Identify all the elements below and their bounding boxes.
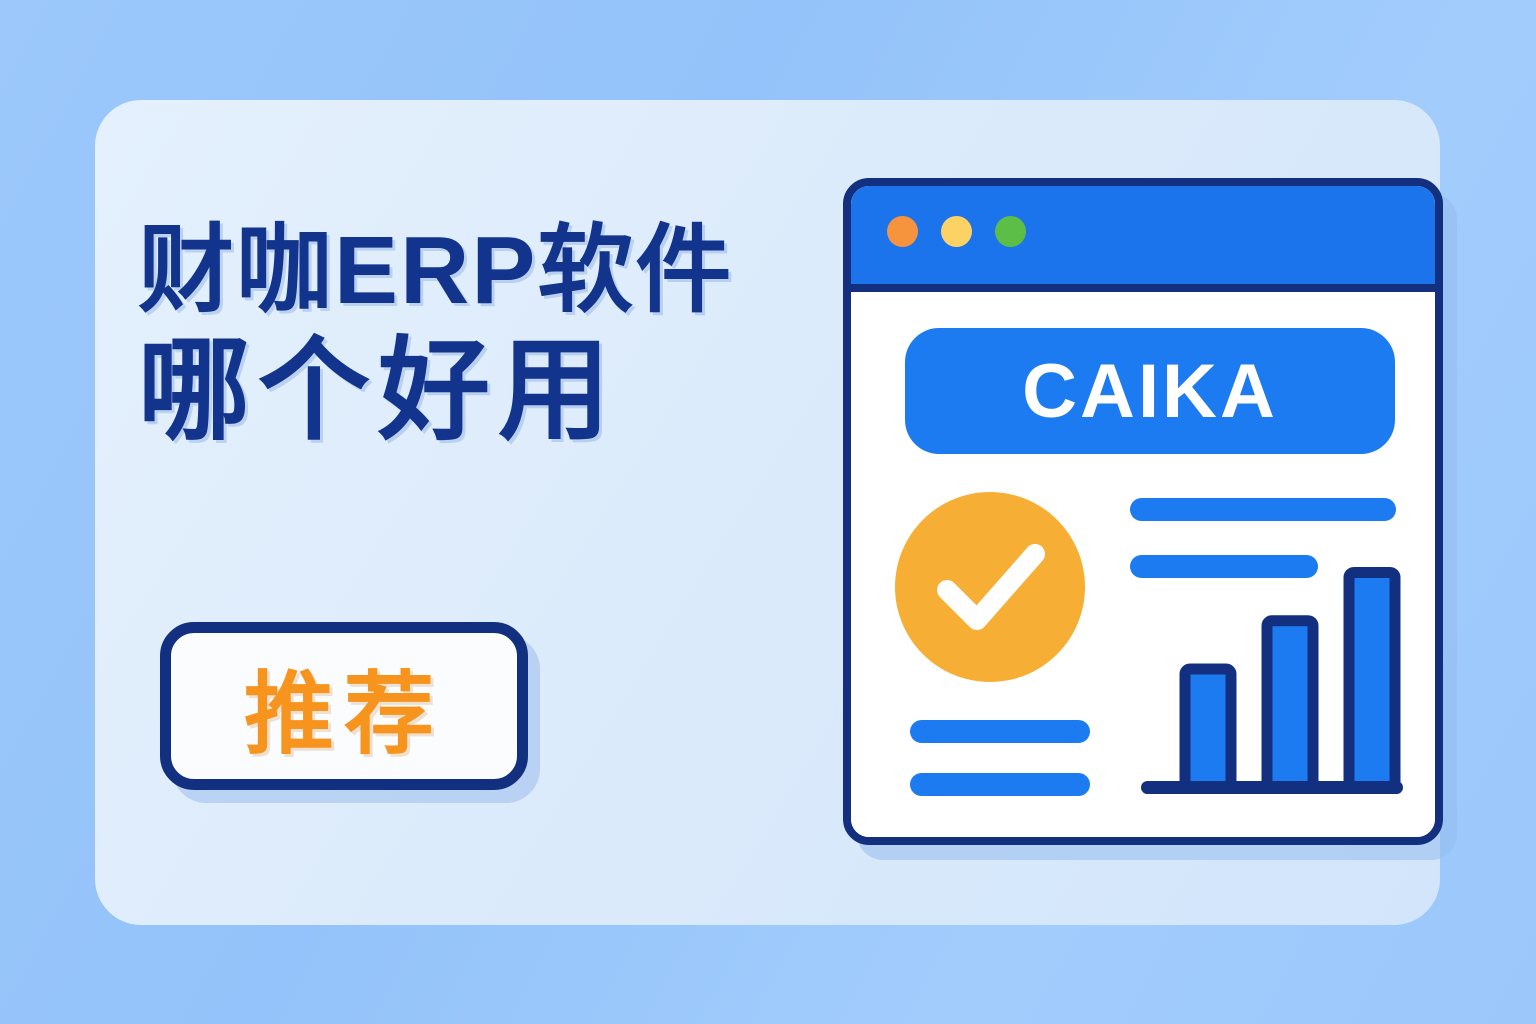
browser-content-area: CAIKA [851, 292, 1435, 845]
chart-bar [1185, 669, 1231, 787]
recommend-badge-label: 推荐 [244, 641, 444, 771]
content-line-bottom-2 [910, 773, 1090, 796]
check-icon [895, 492, 1085, 682]
content-line-top-1 [1130, 498, 1396, 521]
window-minimize-dot-icon[interactable] [941, 216, 972, 247]
page-title: 财咖ERP软件 哪个好用 [138, 222, 828, 448]
content-line-bottom-1 [910, 720, 1090, 743]
headline-line-2: 哪个好用 [138, 334, 828, 448]
brand-banner: CAIKA [905, 328, 1395, 454]
window-maximize-dot-icon[interactable] [995, 216, 1026, 247]
recommend-badge[interactable]: 推荐 [160, 622, 528, 790]
chart-bar [1267, 621, 1313, 787]
chart-baseline [1141, 781, 1403, 794]
headline-line-1: 财咖ERP软件 [138, 222, 828, 320]
poster-canvas: 财咖ERP软件 哪个好用 推荐 CAIKA [0, 0, 1536, 1024]
browser-title-bar [851, 186, 1435, 292]
window-close-dot-icon[interactable] [887, 216, 918, 247]
chart-bar [1349, 572, 1395, 787]
browser-window-mock: CAIKA [843, 178, 1443, 845]
mini-bar-chart [1137, 537, 1407, 805]
brand-banner-label: CAIKA [1022, 348, 1278, 435]
